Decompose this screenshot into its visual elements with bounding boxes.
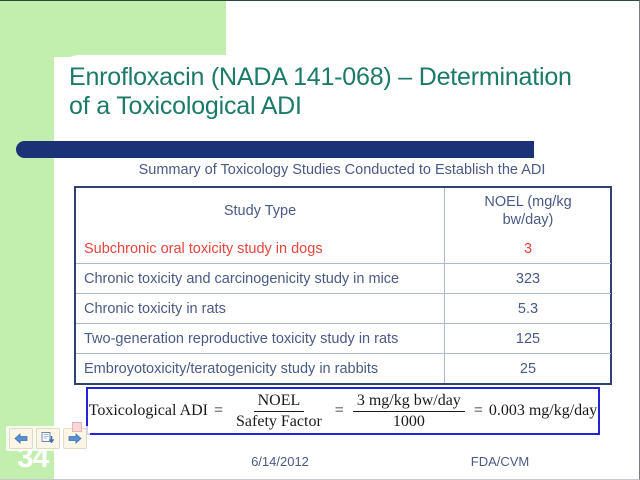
cell-study-type: Embroyotoxicity/teratogenicity study in … <box>76 354 445 384</box>
table-caption: Summary of Toxicology Studies Conducted … <box>72 162 612 178</box>
footer-date: 6/14/2012 <box>190 454 370 469</box>
arrow-left-icon <box>14 433 28 444</box>
arrow-right-icon <box>68 433 82 444</box>
cell-noel-value: 25 <box>445 354 612 384</box>
formula-result: 0.003 mg/kg/day <box>489 402 597 420</box>
cell-noel-value: 125 <box>445 324 612 354</box>
page-title-line-2: of a Toxicological ADI <box>69 92 629 121</box>
formula-fraction-2-denominator: 1000 <box>389 412 429 431</box>
close-toolbar-button[interactable] <box>72 422 82 432</box>
adi-formula: Toxicological ADI = NOEL Safety Factor =… <box>89 392 598 431</box>
table-header-row: Study Type NOEL (mg/kg bw/day) <box>76 188 611 234</box>
table-row: Two-generation reproductive toxicity stu… <box>76 324 611 354</box>
cell-noel-value: 5.3 <box>445 294 612 324</box>
previous-slide-button[interactable] <box>9 428 33 449</box>
navy-accent-bar <box>16 141 534 158</box>
studies-table: Study Type NOEL (mg/kg bw/day) Subchroni… <box>76 188 611 383</box>
table-row: Embroyotoxicity/teratogenicity study in … <box>76 354 611 384</box>
formula-fraction-1-numerator: NOEL <box>254 392 305 412</box>
table-row: Subchronic oral toxicity study in dogs 3 <box>76 234 611 264</box>
cell-study-type: Subchronic oral toxicity study in dogs <box>76 234 445 264</box>
page-title-line-1: Enrofloxacin (NADA 141-068) – Determinat… <box>69 63 629 92</box>
cell-study-type: Two-generation reproductive toxicity stu… <box>76 324 445 354</box>
formula-fraction-1-denominator: Safety Factor <box>232 412 326 431</box>
formula-fraction-2-numerator: 3 mg/kg bw/day <box>353 392 465 412</box>
table-row: Chronic toxicity in rats 5.3 <box>76 294 611 324</box>
formula-label: Toxicological ADI <box>89 402 208 420</box>
column-header-noel: NOEL (mg/kg bw/day) <box>445 188 612 234</box>
cell-noel-value: 323 <box>445 264 612 294</box>
column-header-noel-line-1: NOEL (mg/kg <box>445 193 611 211</box>
page-title: Enrofloxacin (NADA 141-068) – Determinat… <box>69 63 629 121</box>
studies-table-head: Study Type NOEL (mg/kg bw/day) <box>76 188 611 234</box>
column-header-noel-line-2: bw/day) <box>445 211 611 229</box>
cell-study-type: Chronic toxicity and carcinogenicity stu… <box>76 264 445 294</box>
print-icon <box>41 432 55 445</box>
table-row: Chronic toxicity and carcinogenicity stu… <box>76 264 611 294</box>
studies-table-container: Study Type NOEL (mg/kg bw/day) Subchroni… <box>74 186 612 385</box>
print-slide-button[interactable] <box>36 428 60 449</box>
slide-canvas: Enrofloxacin (NADA 141-068) – Determinat… <box>0 0 640 480</box>
formula-equals-1: = <box>208 402 229 420</box>
formula-fraction-1: NOEL Safety Factor <box>229 392 329 431</box>
cell-noel-value: 3 <box>445 234 612 264</box>
formula-fraction-2: 3 mg/kg bw/day 1000 <box>350 392 468 431</box>
footer-organization: FDA/CVM <box>420 454 580 469</box>
formula-equals-2: = <box>329 402 350 420</box>
formula-equals-3: = <box>468 402 489 420</box>
column-header-study-type: Study Type <box>76 188 445 234</box>
adi-formula-box: Toxicological ADI = NOEL Safety Factor =… <box>86 387 600 435</box>
studies-table-body: Subchronic oral toxicity study in dogs 3… <box>76 234 611 383</box>
cell-study-type: Chronic toxicity in rats <box>76 294 445 324</box>
green-decoration-left <box>0 41 54 480</box>
